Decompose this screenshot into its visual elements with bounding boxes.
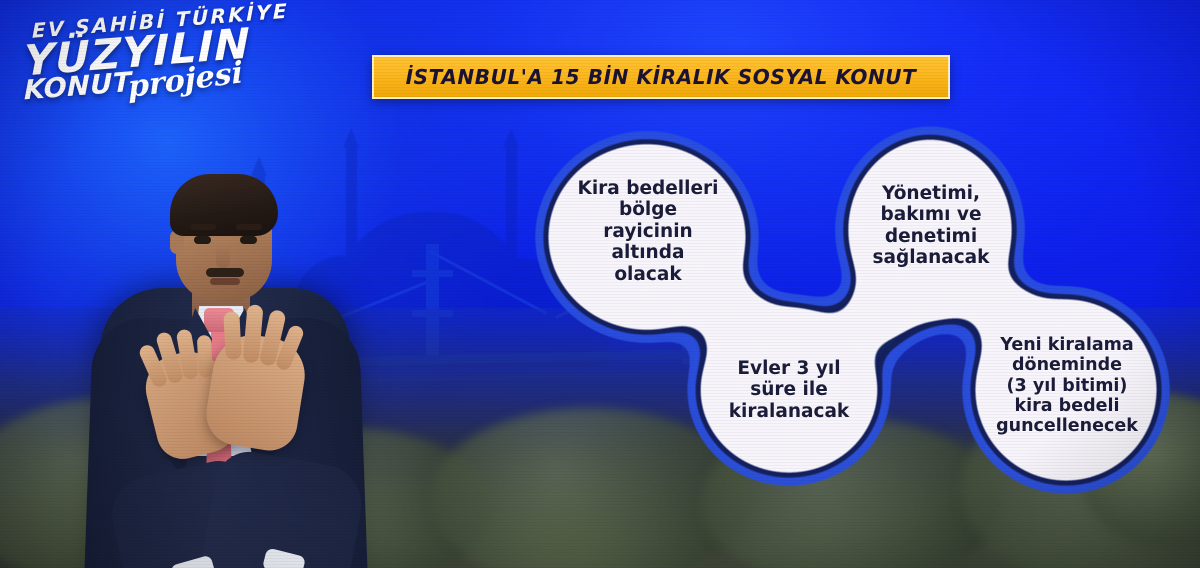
- bubble-text-yonetimi-bakimi: Yönetimi, bakımı ve denetimi sağlanacak: [852, 183, 1010, 269]
- logo-line-3: KONUT: [24, 69, 132, 104]
- bubble-text-evler-3-yil: Evler 3 yıl süre ile kiralanacak: [709, 358, 869, 422]
- headline-banner: İSTANBUL'A 15 BİN KİRALIK SOSYAL KONUT: [372, 55, 950, 99]
- broadcast-screenshot: Kira bedelleri bölge rayicinin altında o…: [0, 0, 1200, 568]
- bubble-text-kira-bedelleri: Kira bedelleri bölge rayicinin altında o…: [562, 178, 734, 285]
- headline-banner-text: İSTANBUL'A 15 BİN KİRALIK SOSYAL KONUT: [406, 65, 917, 89]
- bubble-text-yeni-kiralama: Yeni kiralama döneminde (3 yıl bitimi) k…: [976, 335, 1158, 436]
- speaker-figure: [78, 168, 408, 568]
